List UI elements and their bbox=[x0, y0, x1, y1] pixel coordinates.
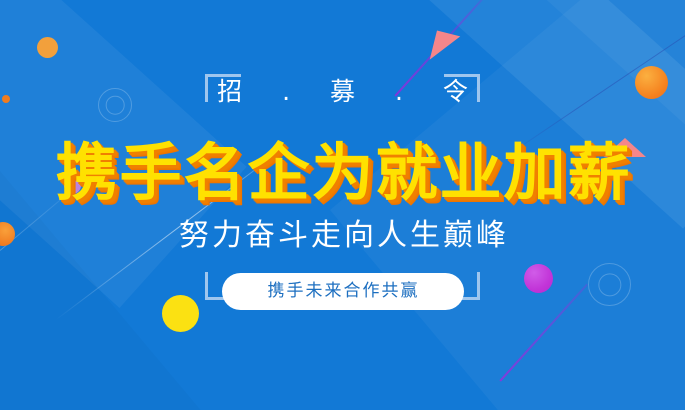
pink-triangle-top-icon bbox=[430, 31, 461, 66]
subtitle: 努力奋斗走向人生巅峰 bbox=[0, 210, 685, 254]
eyebrow-text: 招 . 募 . 令 bbox=[0, 72, 685, 108]
page-title: 携手名企为就业加薪 bbox=[0, 122, 685, 212]
orange-dot-top-left-icon bbox=[37, 37, 58, 58]
cta-button[interactable]: 携手未来合作共赢 bbox=[222, 273, 464, 310]
promotional-banner: 招 . 募 . 令 携手名企为就业加薪 努力奋斗走向人生巅峰 携手未来合作共赢 bbox=[0, 0, 685, 410]
cta-container: 携手未来合作共赢 bbox=[0, 273, 685, 310]
